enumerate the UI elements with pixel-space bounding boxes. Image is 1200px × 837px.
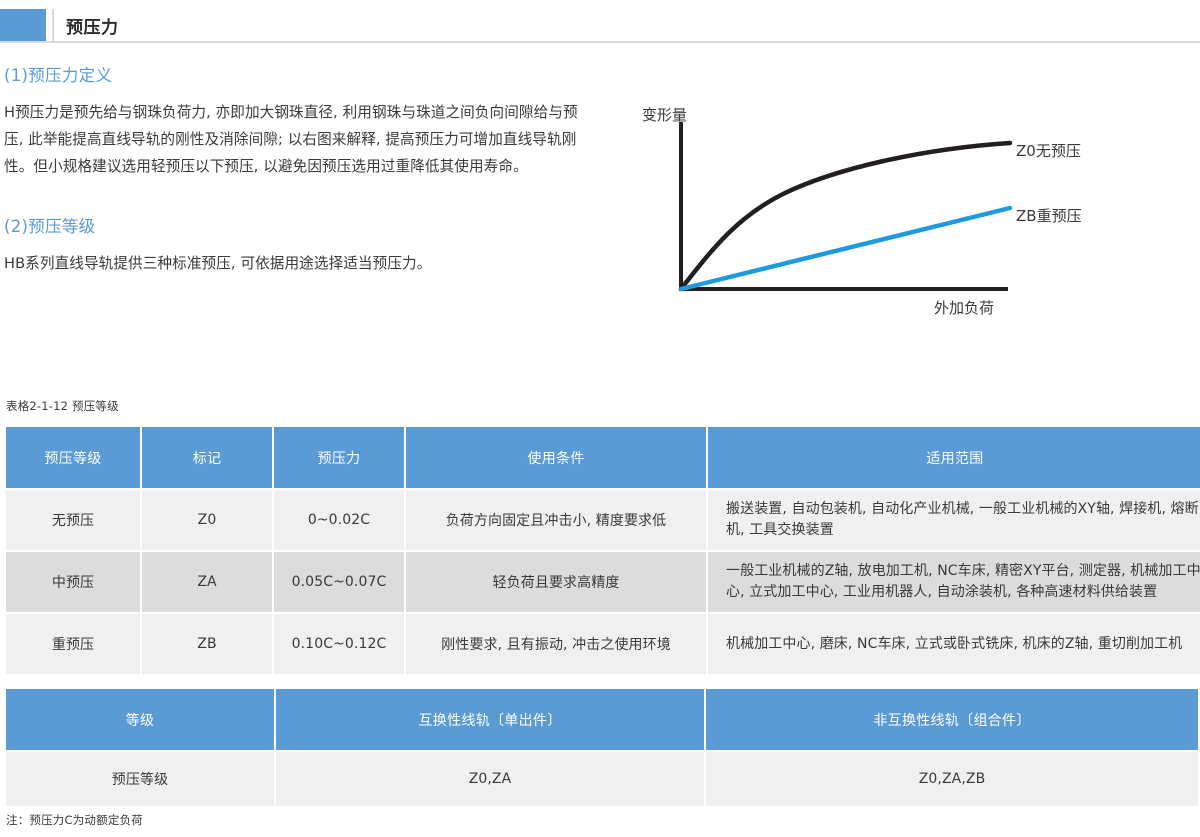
table-caption-preload-grades: 表格2-1-12 预压等级: [6, 398, 119, 414]
chart-series-label-z0: Z0无预压: [1016, 140, 1081, 161]
chart-x-axis-label: 外加负荷: [934, 297, 994, 318]
cell-interchangeable: Z0,ZA: [276, 752, 704, 806]
cell-force: 0~0.02C: [274, 490, 404, 550]
column-header-force: 预压力: [274, 427, 404, 488]
table-row: 预压等级 Z0,ZA Z0,ZA,ZB: [6, 752, 1198, 806]
left-text-column: (1)预压力定义 H预压力是预先给与钢珠负荷力, 亦即加大钢珠直径, 利用钢珠与…: [4, 62, 584, 277]
chart-series-label-zb: ZB重预压: [1016, 205, 1082, 226]
column-header-grade: 预压等级: [6, 427, 140, 488]
cell-mark: ZB: [142, 614, 272, 674]
series-line-zb: [681, 208, 1010, 289]
cell-force: 0.10C~0.12C: [274, 614, 404, 674]
cell-scope: 机械加工中心, 磨床, NC车床, 立式或卧式铣床, 机床的Z轴, 重切削加工机: [708, 614, 1200, 674]
column-header-non-interchangeable: 非互换性线轨〔组合件〕: [706, 689, 1198, 750]
column-header-mark: 标记: [142, 427, 272, 488]
cell-grade: 中预压: [6, 552, 140, 612]
cell-grade: 重预压: [6, 614, 140, 674]
table-row: 中预压 ZA 0.05C~0.07C 轻负荷且要求高精度 一般工业机械的Z轴, …: [6, 552, 1200, 612]
section-heading-grades: (2)预压等级: [4, 213, 584, 237]
page-title: 预压力: [66, 13, 119, 38]
header-title-container: 预压力: [52, 9, 1200, 41]
cell-condition: 刚性要求, 且有振动, 冲击之使用环境: [406, 614, 706, 674]
column-header-condition: 使用条件: [406, 427, 706, 488]
section-body-grades: HB系列直线导轨提供三种标准预压, 可依据用途选择适当预压力。: [4, 250, 584, 277]
cell-condition: 负荷方向固定且冲击小, 精度要求低: [406, 490, 706, 550]
table-accuracy-grades: 等级 互换性线轨〔单出件〕 非互换性线轨〔组合件〕 预压等级 Z0,ZA Z0,…: [4, 687, 1200, 808]
cell-scope: 一般工业机械的Z轴, 放电加工机, NC车床, 精密XY平台, 测定器, 机械加…: [708, 552, 1200, 612]
table-row: 重预压 ZB 0.10C~0.12C 刚性要求, 且有振动, 冲击之使用环境 机…: [6, 614, 1200, 674]
cell-non-interchangeable: Z0,ZA,ZB: [706, 752, 1198, 806]
column-header-interchangeable: 互换性线轨〔单出件〕: [276, 689, 704, 750]
cell-grade: 预压等级: [6, 752, 274, 806]
preload-deformation-chart: 变形量 外加负荷 Z0无预压 ZB重预压: [620, 95, 1140, 335]
table-header-row: 等级 互换性线轨〔单出件〕 非互换性线轨〔组合件〕: [6, 689, 1198, 750]
cell-force: 0.05C~0.07C: [274, 552, 404, 612]
column-header-scope: 适用范围: [708, 427, 1200, 488]
header-accent-block: [0, 9, 46, 41]
section-body-definition: H预压力是预先给与钢珠负荷力, 亦即加大钢珠直径, 利用钢珠与珠道之间负向间隙给…: [4, 99, 584, 180]
footnote-note: 注：预压力C为动额定负荷: [6, 812, 143, 828]
cell-mark: ZA: [142, 552, 272, 612]
series-line-z0: [681, 143, 1010, 289]
cell-grade: 无预压: [6, 490, 140, 550]
section-heading-definition: (1)预压力定义: [4, 62, 584, 86]
table-header-row: 预压等级 标记 预压力 使用条件 适用范围: [6, 427, 1200, 488]
table-row: 无预压 Z0 0~0.02C 负荷方向固定且冲击小, 精度要求低 搬送装置, 自…: [6, 490, 1200, 550]
cell-condition: 轻负荷且要求高精度: [406, 552, 706, 612]
chart-y-axis-label: 变形量: [642, 104, 687, 125]
page-header: 预压力: [0, 9, 1200, 43]
cell-mark: Z0: [142, 490, 272, 550]
table-preload-grades: 预压等级 标记 预压力 使用条件 适用范围 无预压 Z0 0~0.02C 负荷方…: [4, 425, 1200, 676]
cell-scope: 搬送装置, 自动包装机, 自动化产业机械, 一般工业机械的XY轴, 焊接机, 熔…: [708, 490, 1200, 550]
column-header-grade: 等级: [6, 689, 274, 750]
